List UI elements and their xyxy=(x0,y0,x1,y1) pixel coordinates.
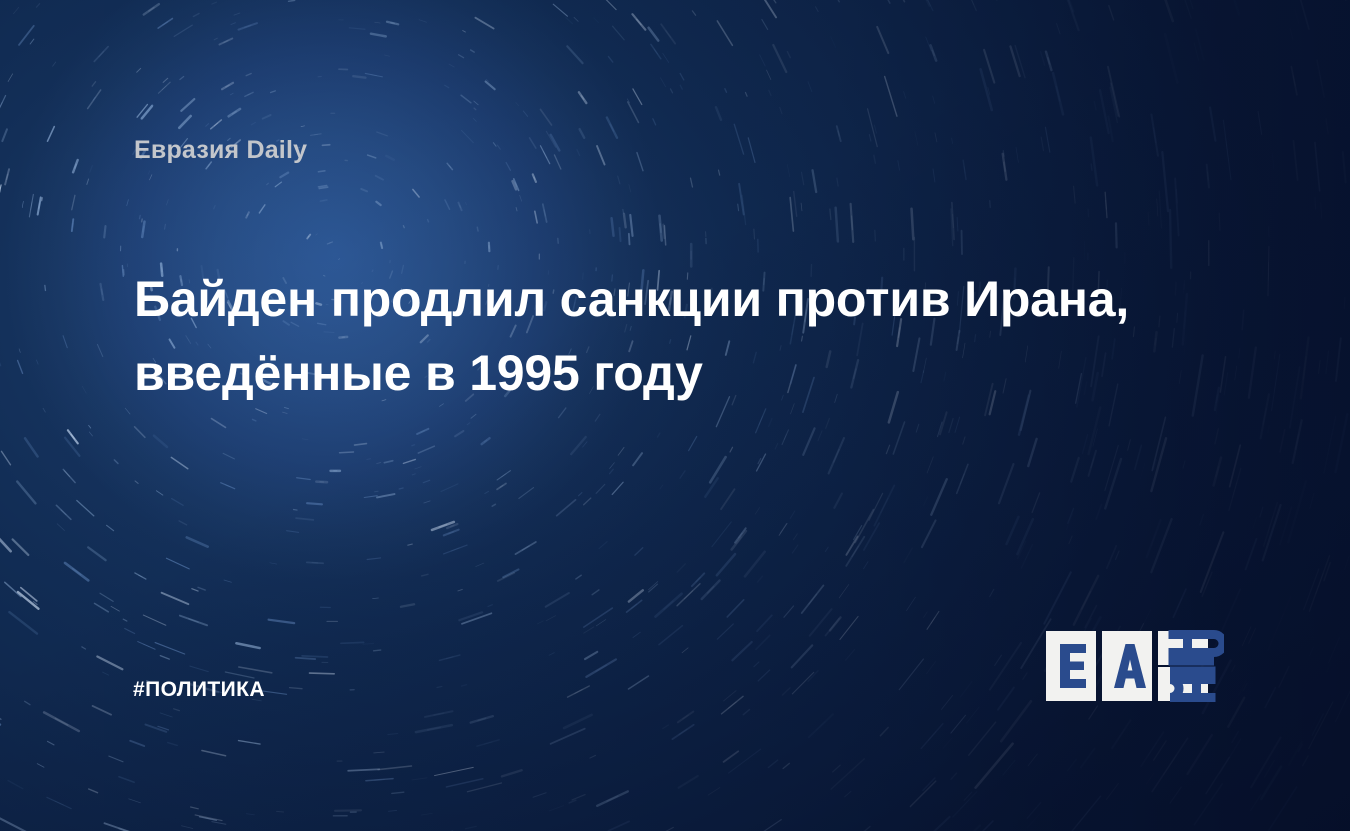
star-trail-streaks-fine xyxy=(0,0,1350,831)
news-card: Евразия Daily Байден продлил санкции про… xyxy=(0,0,1350,831)
headline-line-2: введённые в 1995 году xyxy=(134,336,1204,410)
star-trail-streaks xyxy=(0,0,1350,831)
brand-wordmark: Евразия Daily xyxy=(134,136,307,165)
headline-line-1: Байден продлил санкции против Ирана, xyxy=(134,262,1204,336)
category-hashtag[interactable]: #ПОЛИТИКА xyxy=(133,678,265,702)
background-base xyxy=(0,0,1350,831)
headline: Байден продлил санкции против Ирана, вве… xyxy=(134,262,1204,410)
eadaily-logo-svg xyxy=(1046,630,1224,702)
logo-letter-e xyxy=(1060,644,1086,688)
background-vignette xyxy=(0,0,1350,831)
eadaily-logo[interactable] xyxy=(1046,630,1224,702)
background-corner-shade xyxy=(0,0,1350,831)
